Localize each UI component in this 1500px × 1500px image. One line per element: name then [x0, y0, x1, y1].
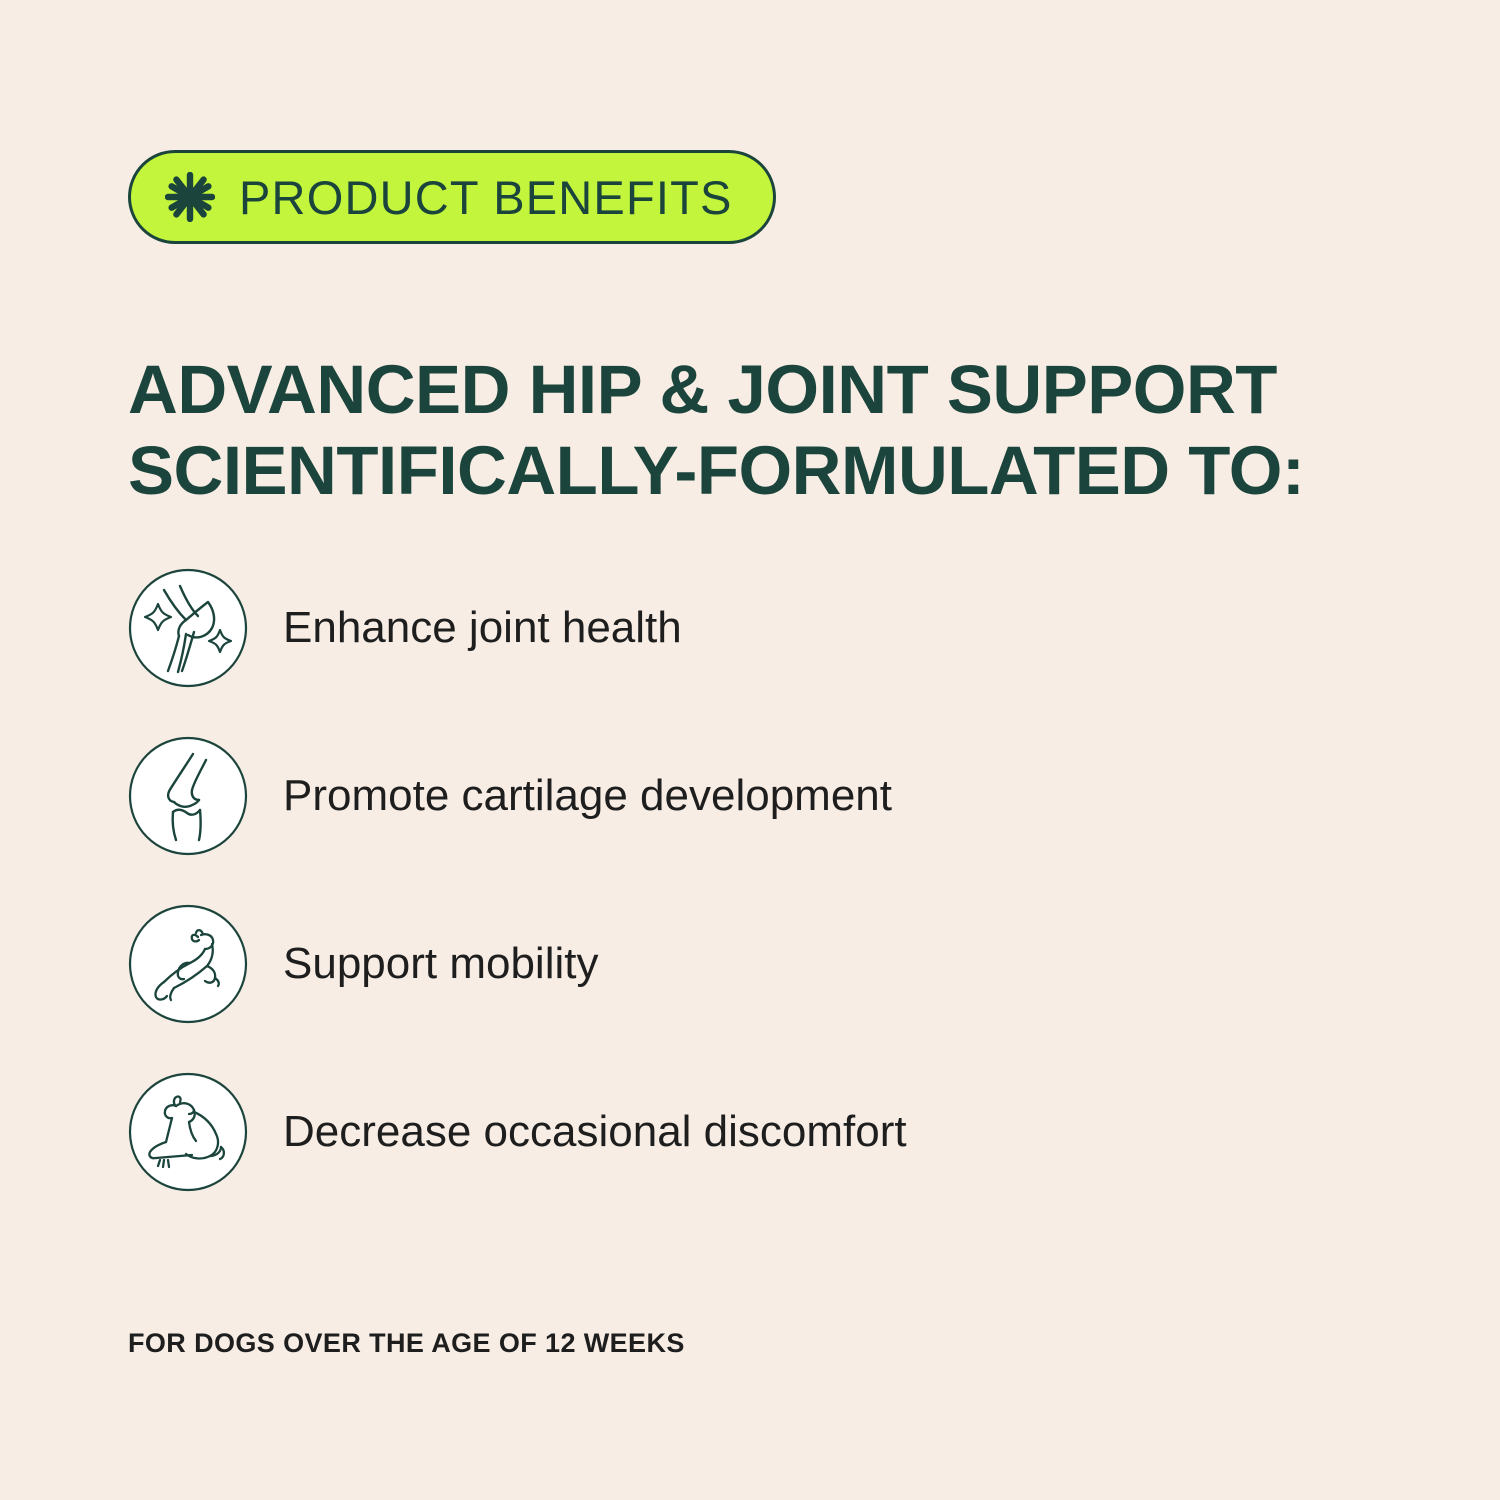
page-title-line-1: ADVANCED HIP & JOINT SUPPORT	[128, 350, 1388, 431]
benefit-item-discomfort: Decrease occasional discomfort	[128, 1072, 1388, 1192]
leaping-dog-icon	[128, 904, 248, 1024]
page-title: ADVANCED HIP & JOINT SUPPORT SCIENTIFICA…	[128, 350, 1388, 511]
benefit-item-mobility: Support mobility	[128, 904, 1388, 1024]
page-title-line-2: SCIENTIFICALLY-FORMULATED TO:	[128, 431, 1388, 512]
knee-joint-sparkle-icon	[128, 568, 248, 688]
knee-cartilage-icon	[128, 736, 248, 856]
benefit-label: Decrease occasional discomfort	[283, 1108, 907, 1156]
benefit-item-joint-health: Enhance joint health	[128, 568, 1388, 688]
asterisk-icon	[165, 172, 215, 222]
benefits-list: Enhance joint health	[128, 568, 1388, 1240]
benefit-item-cartilage: Promote cartilage development	[128, 736, 1388, 856]
badge-label: PRODUCT BENEFITS	[239, 174, 733, 221]
resting-dog-icon	[128, 1072, 248, 1192]
product-benefits-badge: PRODUCT BENEFITS	[128, 150, 776, 244]
product-benefits-panel: PRODUCT BENEFITS ADVANCED HIP & JOINT SU…	[0, 0, 1500, 1500]
benefit-label: Support mobility	[283, 940, 598, 988]
benefit-label: Promote cartilage development	[283, 772, 892, 820]
benefit-label: Enhance joint health	[283, 604, 682, 652]
age-disclaimer: FOR DOGS OVER THE AGE OF 12 WEEKS	[128, 1328, 685, 1359]
